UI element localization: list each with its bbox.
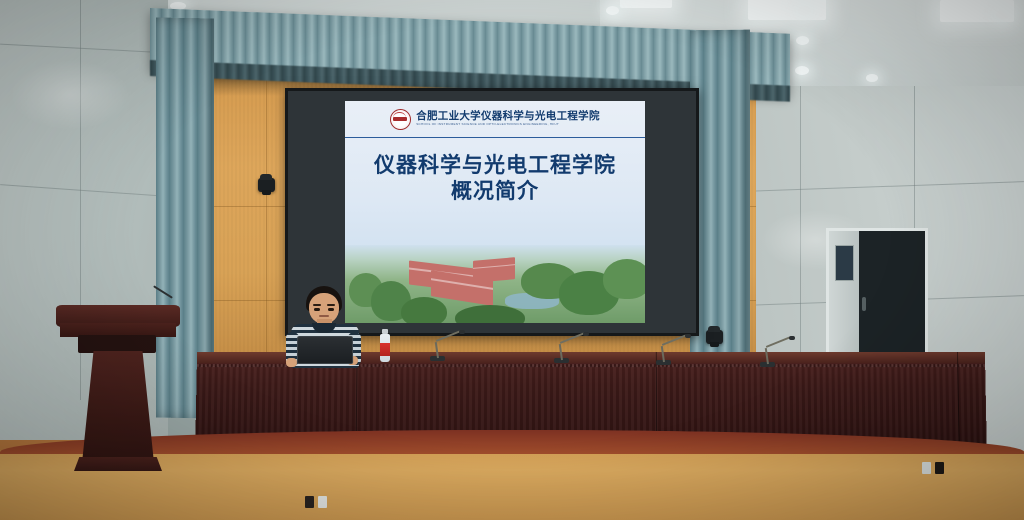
water-bottle [380,334,390,362]
side-door[interactable] [826,228,928,372]
door-handle[interactable] [862,297,866,311]
presentation-slide: 合肥工业大学仪器科学与光电工程学院 SCHOOL OF INSTRUMENT S… [345,101,645,323]
mic-head [789,336,795,340]
wooden-podium [56,305,180,477]
presenter-brow [313,304,321,306]
bottle-label [380,343,390,356]
institution-name-en: SCHOOL OF INSTRUMENT SCIENCE AND OPTO-EL… [416,123,600,126]
ceiling-light [606,6,619,15]
tree [603,259,645,299]
power-outlet[interactable] [318,496,327,508]
wall-highlight [10,60,130,130]
ceiling-light [795,66,809,75]
podium-body [82,351,154,463]
mic-head [685,334,691,338]
presenter-brow [327,304,335,306]
ceiling-light [748,0,826,20]
laptop[interactable] [297,336,353,364]
podium-base [74,457,162,471]
slide-header: 合肥工业大学仪器科学与光电工程学院 SCHOOL OF INSTRUMENT S… [345,101,645,138]
ceiling-light [796,36,809,45]
slide-title-line1: 仪器科学与光电工程学院 [345,153,645,179]
mic-head [583,332,589,336]
ceiling-light [798,6,811,15]
wood-wall-seam [266,62,267,362]
door-leaf [829,231,859,369]
presenter-eye [314,308,320,311]
stage-spotlight [258,178,275,192]
power-outlet[interactable] [305,496,314,508]
power-outlet[interactable] [935,462,944,474]
ceiling-light [620,0,672,8]
slide-campus-photo [345,245,645,323]
presenter-eye [328,308,334,311]
mic-head [459,330,465,334]
ceiling-light [866,74,878,82]
slide-title-line2: 概况简介 [345,179,645,205]
ceiling-light [996,10,1009,19]
institution-name-cn: 合肥工业大学仪器科学与光电工程学院 [416,111,600,122]
bottle-cap [382,329,388,334]
slide-header-text: 合肥工业大学仪器科学与光电工程学院 SCHOOL OF INSTRUMENT S… [416,111,600,126]
campus-building [473,257,515,283]
hfut-seal-logo [390,109,411,130]
presenter-hand [286,358,297,367]
power-outlet[interactable] [922,462,931,474]
stage-spotlight [706,330,723,344]
slide-title: 仪器科学与光电工程学院 概况简介 [345,153,645,206]
presenter-mouth [319,315,329,317]
podium-band [78,335,156,353]
lecture-hall-scene: 合肥工业大学仪器科学与光电工程学院 SCHOOL OF INSTRUMENT S… [0,0,1024,520]
tree [401,297,447,323]
door-window [835,245,854,281]
